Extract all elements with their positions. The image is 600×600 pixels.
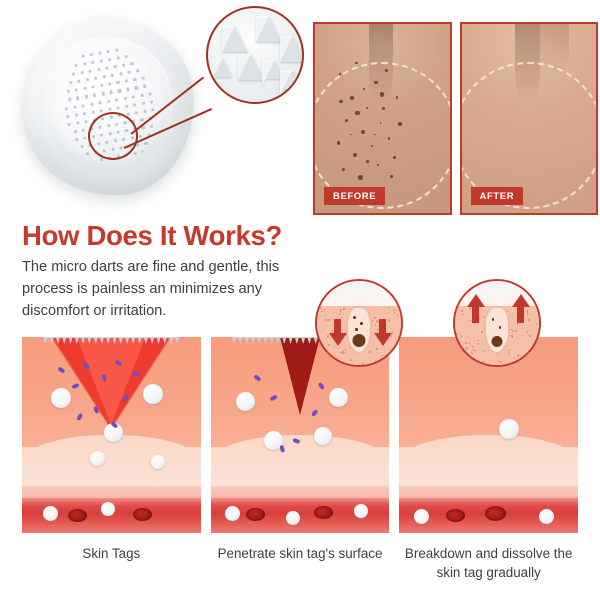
magnifier-ring-small [88, 112, 138, 160]
skin-cross-section-3 [399, 337, 578, 533]
dermis-layer [399, 447, 578, 486]
before-photo: BEFORE [313, 22, 452, 215]
after-label: AFTER [471, 187, 524, 205]
subcutaneous-layer [399, 486, 578, 498]
dermis-layer [22, 447, 201, 486]
product-illustration [0, 0, 310, 215]
dart-penetration-channel [280, 337, 320, 415]
step-caption-1: Skin Tags [22, 545, 201, 582]
inflammation-core [75, 337, 147, 425]
step-captions: Skin Tags Penetrate skin tag's surface B… [22, 545, 578, 582]
micro-dart-patch [13, 9, 203, 204]
step-panel-2 [211, 337, 390, 533]
step-panel-1 [22, 337, 201, 533]
subcutaneous-layer [211, 486, 390, 498]
before-label: BEFORE [324, 187, 385, 205]
step-caption-3: Breakdown and dissolve the skin tag grad… [399, 545, 578, 582]
before-after-comparison: BEFORE AFTER [313, 22, 598, 215]
applicator-teeth-1 [43, 338, 179, 344]
subcutaneous-layer [22, 486, 201, 498]
micro-darts-zoom-inset [206, 6, 304, 104]
pore-inset-penetrate [315, 279, 403, 367]
skin-cross-section-1 [22, 337, 201, 533]
description-text: The micro darts are fine and gentle, thi… [22, 256, 317, 323]
page-title: How Does It Works? [22, 220, 282, 252]
step-caption-2: Penetrate skin tag's surface [211, 545, 390, 582]
process-diagram [22, 337, 578, 533]
dermis-layer [211, 447, 390, 486]
infographic-page: BEFORE AFTER How Does It Works? The micr… [0, 0, 600, 600]
step-panel-3 [399, 337, 578, 533]
pore-inset-dissolve [453, 279, 541, 367]
after-photo: AFTER [460, 22, 599, 215]
